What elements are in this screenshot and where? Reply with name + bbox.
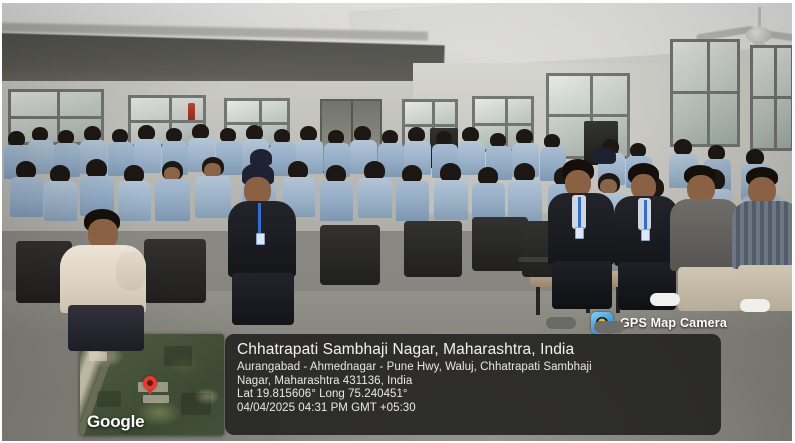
chair-leg	[536, 287, 540, 315]
google-attribution: Google	[87, 412, 144, 432]
map-parcel	[181, 393, 211, 415]
shoe	[594, 321, 624, 333]
shoe	[546, 317, 576, 329]
timestamp: 04/04/2025 04:31 PM GMT +05:30	[237, 402, 711, 416]
location-title: Chhatrapati Sambhaji Nagar, Maharashtra,…	[237, 341, 711, 359]
photo-frame: GPS Map Camera Google Chhatrapati Sambha…	[0, 0, 795, 443]
location-info-panel: Chhatrapati Sambhaji Nagar, Maharashtra,…	[225, 334, 721, 435]
chair	[404, 221, 462, 277]
chair	[144, 239, 206, 303]
fire-extinguisher	[188, 103, 195, 120]
ceiling-fan-rod	[758, 7, 761, 29]
chair	[320, 225, 380, 285]
gps-map-camera-label: GPS Map Camera	[620, 316, 727, 330]
map-parcel	[97, 391, 121, 407]
map-parcel	[164, 346, 192, 366]
map-building	[143, 395, 169, 403]
chair	[472, 217, 528, 271]
coordinates: Lat 19.815606° Long 75.240451°	[237, 388, 711, 402]
audience	[2, 121, 792, 336]
map-building	[89, 352, 107, 361]
shoe	[740, 299, 770, 312]
address-line-1: Aurangabad - Ahmednagar - Pune Hwy, Walu…	[237, 361, 711, 375]
shoe	[650, 293, 680, 306]
address-line-2: Nagar, Maharashtra 431136, India	[237, 375, 711, 389]
photograph: GPS Map Camera Google Chhatrapati Sambha…	[2, 3, 792, 441]
